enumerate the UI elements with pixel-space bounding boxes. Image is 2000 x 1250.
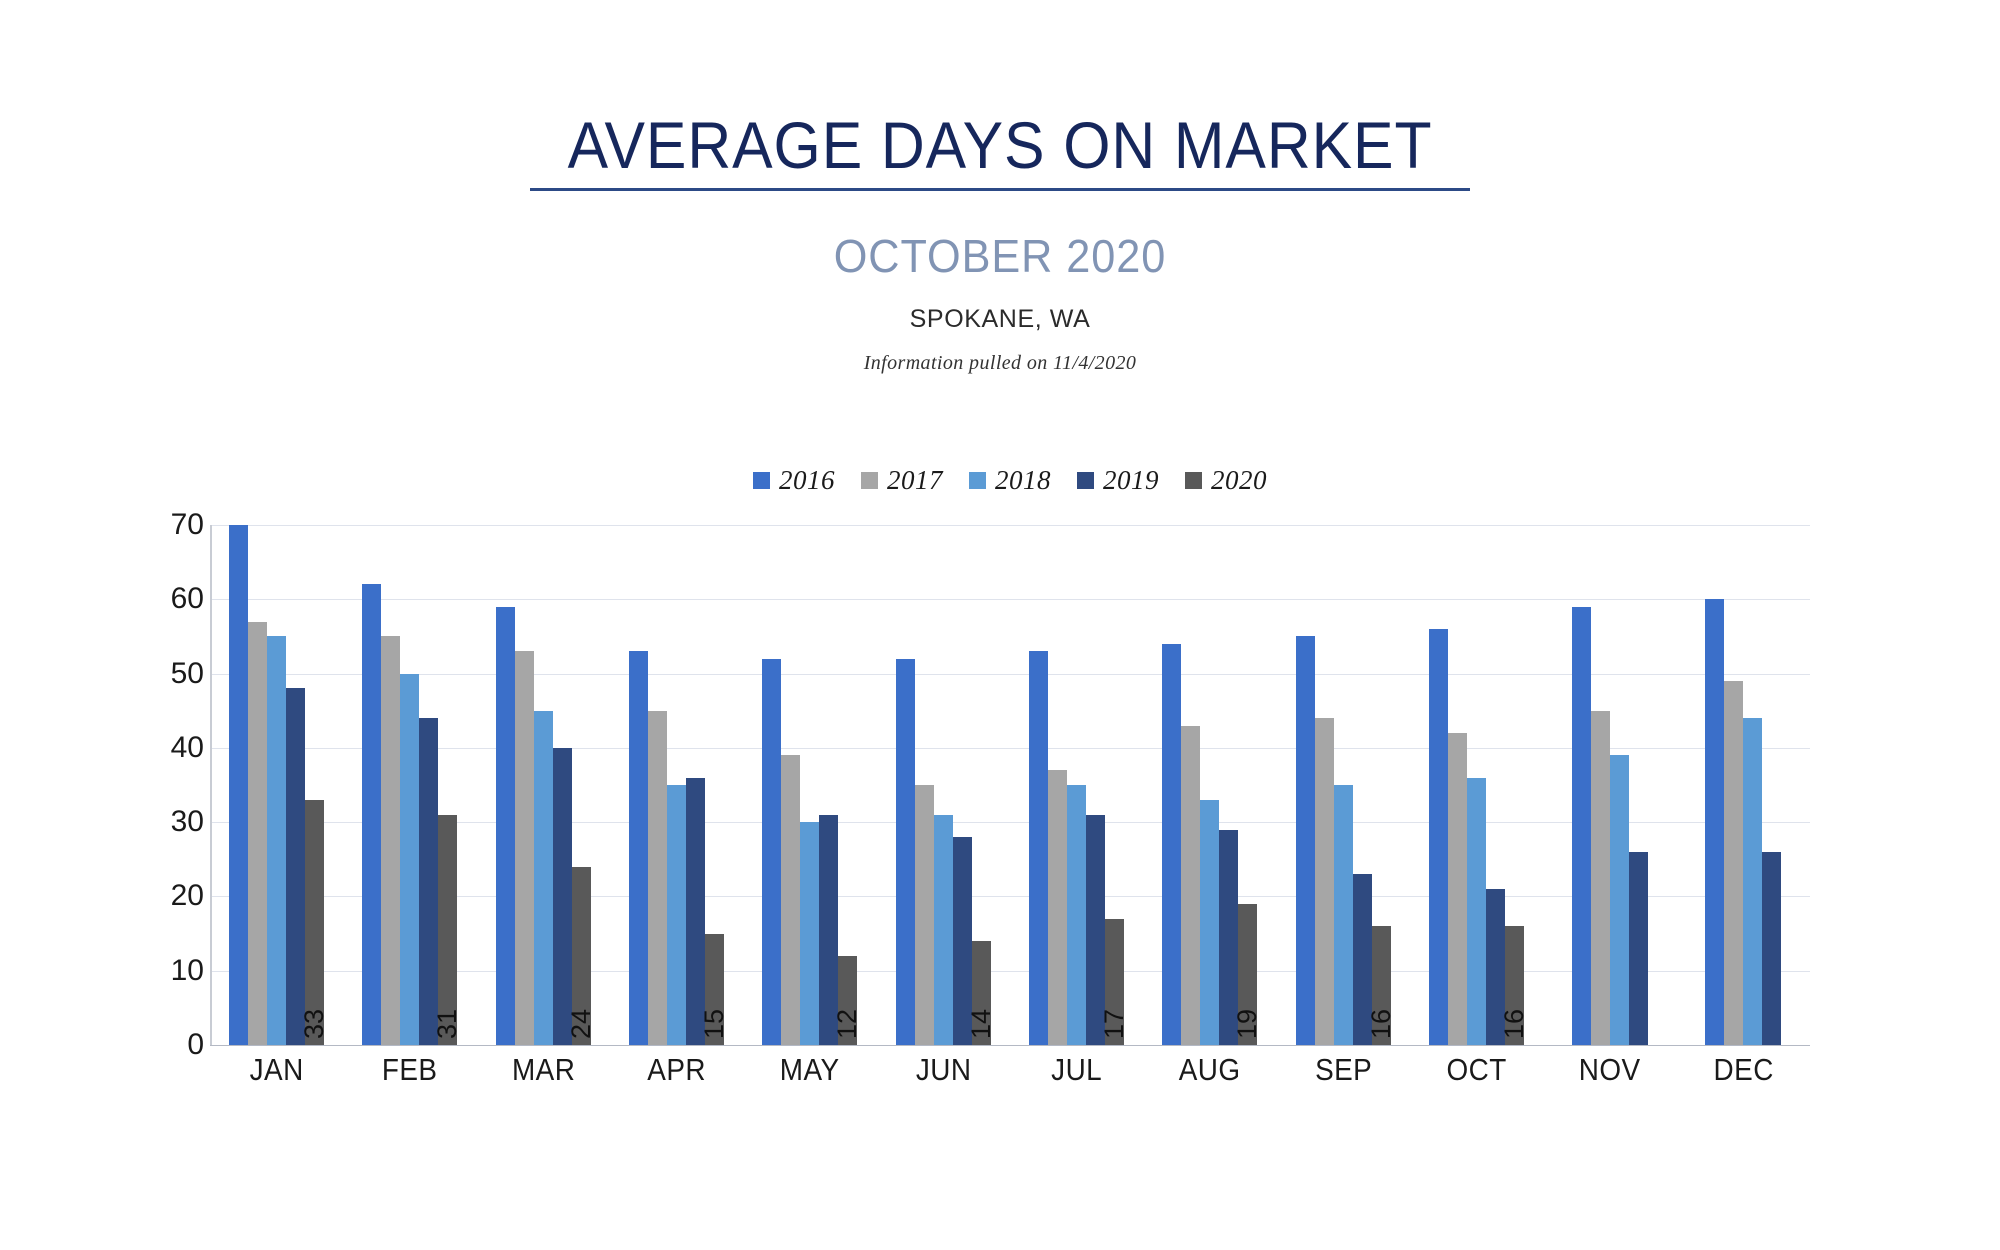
legend-item-2018[interactable]: 2018 [969,465,1051,496]
legend-label: 2019 [1103,465,1159,496]
legend-swatch-icon [861,472,878,489]
bar-2017-mar[interactable] [515,651,534,1045]
page-title: AVERAGE DAYS ON MARKET [568,112,1433,179]
bar-group-may: 12 [743,525,876,1045]
bar-2018-may[interactable] [800,822,819,1045]
bar-value-label: 31 [434,1009,461,1039]
page-header: AVERAGE DAYS ON MARKET OCTOBER 2020 SPOK… [0,0,2000,375]
bar-2019-nov[interactable] [1629,852,1648,1045]
bar-value-label: 16 [1501,1009,1528,1039]
y-axis-tick-label: 30 [171,807,204,837]
legend-swatch-icon [1185,472,1202,489]
bar-group-sep: 16 [1277,525,1410,1045]
y-axis-tick-label: 0 [187,1030,204,1060]
bar-2019-mar[interactable] [553,748,572,1045]
legend-label: 2017 [887,465,943,496]
bar-group-dec [1677,525,1810,1045]
bar-2018-nov[interactable] [1610,755,1629,1045]
legend-swatch-icon [1077,472,1094,489]
bar-2016-oct[interactable] [1429,629,1448,1045]
x-axis-tick-label: FEB [350,1052,470,1088]
bar-2019-apr[interactable] [686,778,705,1045]
bar-group-oct: 16 [1410,525,1543,1045]
x-axis-tick-label: NOV [1550,1052,1670,1088]
pulled-date-note: Information pulled on 11/4/2020 [0,352,2000,375]
x-axis-tick-label: DEC [1683,1052,1803,1088]
bar-group-apr: 15 [610,525,743,1045]
bar-2018-apr[interactable] [667,785,686,1045]
bar-group-jan: 33 [210,525,343,1045]
title-underline [530,188,1470,191]
chart-legend: 20162017201820192020 [210,465,1810,496]
bar-2016-apr[interactable] [629,651,648,1045]
bar-2020-feb[interactable]: 31 [438,815,457,1045]
bar-2017-aug[interactable] [1181,726,1200,1045]
bar-2017-jun[interactable] [915,785,934,1045]
bar-2016-sep[interactable] [1296,636,1315,1045]
page-subtitle: OCTOBER 2020 [60,229,1940,283]
bar-2020-oct[interactable]: 16 [1505,926,1524,1045]
x-axis-tick-label: JUL [1017,1052,1137,1088]
legend-item-2017[interactable]: 2017 [861,465,943,496]
bar-2017-sep[interactable] [1315,718,1334,1045]
bar-2020-mar[interactable]: 24 [572,867,591,1045]
bar-2020-jan[interactable]: 33 [305,800,324,1045]
legend-item-2016[interactable]: 2016 [753,465,835,496]
bar-group-feb: 31 [343,525,476,1045]
title-block: AVERAGE DAYS ON MARKET [530,112,1470,191]
bar-2017-feb[interactable] [381,636,400,1045]
bar-2018-mar[interactable] [534,711,553,1045]
bar-value-label: 19 [1234,1009,1261,1039]
bar-group-nov [1543,525,1676,1045]
bar-2020-aug[interactable]: 19 [1238,904,1257,1045]
bar-groups: 33312415121417191616 [210,525,1810,1045]
y-axis-tick-label: 10 [171,956,204,986]
y-axis-tick-label: 50 [171,659,204,689]
x-axis-tick-label: MAY [750,1052,870,1088]
bar-2016-jul[interactable] [1029,651,1048,1045]
locale-label: SPOKANE, WA [0,305,2000,334]
x-axis-tick-label: OCT [1417,1052,1537,1088]
legend-item-2020[interactable]: 2020 [1185,465,1267,496]
x-axis-tick-label: APR [617,1052,737,1088]
legend-swatch-icon [969,472,986,489]
y-axis-labels: 010203040506070 [148,525,204,1045]
bar-2018-sep[interactable] [1334,785,1353,1045]
bar-2017-nov[interactable] [1591,711,1610,1045]
legend-label: 2020 [1211,465,1267,496]
legend-swatch-icon [753,472,770,489]
x-axis-tick-label: SEP [1283,1052,1403,1088]
bar-2018-jan[interactable] [267,636,286,1045]
x-axis-tick-label: AUG [1150,1052,1270,1088]
bar-2016-may[interactable] [762,659,781,1045]
bar-2016-jun[interactable] [896,659,915,1045]
x-axis-labels: JANFEBMARAPRMAYJUNJULAUGSEPOCTNOVDEC [210,1052,1810,1088]
y-axis-tick-label: 60 [171,584,204,614]
bar-2020-apr[interactable]: 15 [705,934,724,1045]
legend-label: 2018 [995,465,1051,496]
bar-2016-dec[interactable] [1705,599,1724,1045]
bar-value-label: 33 [301,1009,328,1039]
chart-page: AVERAGE DAYS ON MARKET OCTOBER 2020 SPOK… [0,0,2000,1250]
bar-2020-jun[interactable]: 14 [972,941,991,1045]
bar-2020-jul[interactable]: 17 [1105,919,1124,1045]
bar-2016-feb[interactable] [362,584,381,1045]
y-axis-tick-label: 70 [171,510,204,540]
bar-group-mar: 24 [477,525,610,1045]
bar-group-jul: 17 [1010,525,1143,1045]
bar-2018-feb[interactable] [400,674,419,1045]
bar-2016-jan[interactable] [229,525,248,1045]
bar-2017-jan[interactable] [248,622,267,1045]
bar-group-aug: 19 [1143,525,1276,1045]
bar-2018-aug[interactable] [1200,800,1219,1045]
y-axis-tick-label: 20 [171,881,204,911]
y-axis-tick-label: 40 [171,733,204,763]
bar-value-label: 17 [1101,1009,1128,1039]
bar-2017-apr[interactable] [648,711,667,1045]
bar-2019-jan[interactable] [286,688,305,1045]
bar-2017-jul[interactable] [1048,770,1067,1045]
bar-2017-oct[interactable] [1448,733,1467,1045]
bar-value-label: 24 [568,1009,595,1039]
bar-2018-jun[interactable] [934,815,953,1045]
gridline [210,1045,1810,1046]
bar-2016-aug[interactable] [1162,644,1181,1045]
bar-value-label: 15 [701,1009,728,1039]
bar-2016-nov[interactable] [1572,607,1591,1045]
legend-item-2019[interactable]: 2019 [1077,465,1159,496]
bar-2019-dec[interactable] [1762,852,1781,1045]
bar-value-label: 14 [968,1009,995,1039]
x-axis-tick-label: JAN [217,1052,337,1088]
bar-2017-dec[interactable] [1724,681,1743,1045]
legend-label: 2016 [779,465,835,496]
bar-2018-oct[interactable] [1467,778,1486,1045]
x-axis-tick-label: JUN [883,1052,1003,1088]
bar-2017-may[interactable] [781,755,800,1045]
bar-2020-sep[interactable]: 16 [1372,926,1391,1045]
bar-2018-dec[interactable] [1743,718,1762,1045]
bar-2016-mar[interactable] [496,607,515,1045]
bar-value-label: 16 [1368,1009,1395,1039]
bar-group-jun: 14 [877,525,1010,1045]
bar-value-label: 12 [834,1009,861,1039]
x-axis-tick-label: MAR [483,1052,603,1088]
bar-2019-feb[interactable] [419,718,438,1045]
bar-2018-jul[interactable] [1067,785,1086,1045]
bar-2020-may[interactable]: 12 [838,956,857,1045]
bar-chart: 20162017201820192020 010203040506070 333… [210,525,1810,1045]
